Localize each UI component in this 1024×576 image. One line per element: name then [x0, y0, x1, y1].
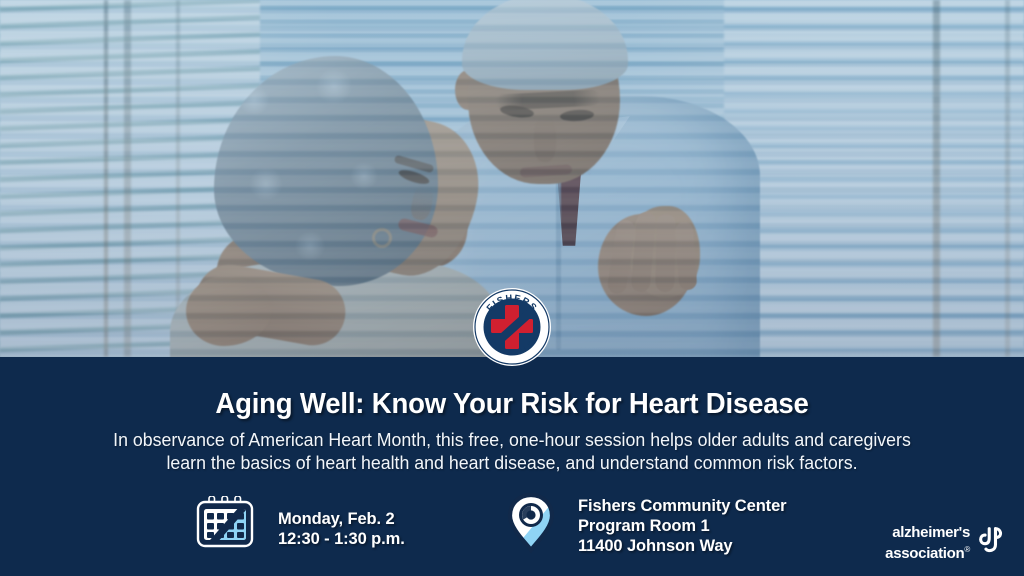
description-line-2: learn the basics of heart health and hea…	[51, 451, 973, 474]
registered-mark: ®	[964, 545, 970, 554]
map-pin-icon	[506, 492, 556, 559]
location-block: Fishers Community Center Program Room 1 …	[506, 492, 786, 559]
alz-logo-wordmark: alzheimer's association®	[885, 524, 970, 562]
venue-name: Fishers Community Center	[578, 496, 786, 516]
alz-logo-line-2: association®	[885, 541, 970, 562]
alz-logo-line-1: alzheimer's	[885, 524, 970, 541]
description-line-1: In observance of American Heart Month, t…	[51, 428, 973, 451]
event-details: Monday, Feb. 2 12:30 - 1:30 p.m.	[0, 488, 1024, 570]
street-address: 11400 Johnson Way	[578, 536, 786, 556]
date-time-lines: Monday, Feb. 2 12:30 - 1:30 p.m.	[278, 496, 405, 549]
event-date: Monday, Feb. 2	[278, 509, 405, 529]
alz-logo-mark-icon	[975, 526, 1006, 560]
description-text: In observance of American Heart Month, t…	[51, 428, 973, 474]
alzheimers-association-logo: alzheimer's association®	[885, 524, 1006, 562]
event-time: 12:30 - 1:30 p.m.	[278, 529, 405, 549]
calendar-icon	[196, 496, 254, 553]
fishers-health-department-seal: FISHERS HEALTH DEPARTMENT	[472, 287, 552, 367]
location-lines: Fishers Community Center Program Room 1 …	[578, 492, 786, 556]
date-time-block: Monday, Feb. 2 12:30 - 1:30 p.m.	[196, 496, 405, 553]
room-name: Program Room 1	[578, 516, 786, 536]
event-flyer: FISHERS HEALTH DEPARTMENT Aging Well: Kn…	[0, 0, 1024, 576]
page-title: Aging Well: Know Your Risk for Heart Dis…	[26, 388, 999, 421]
